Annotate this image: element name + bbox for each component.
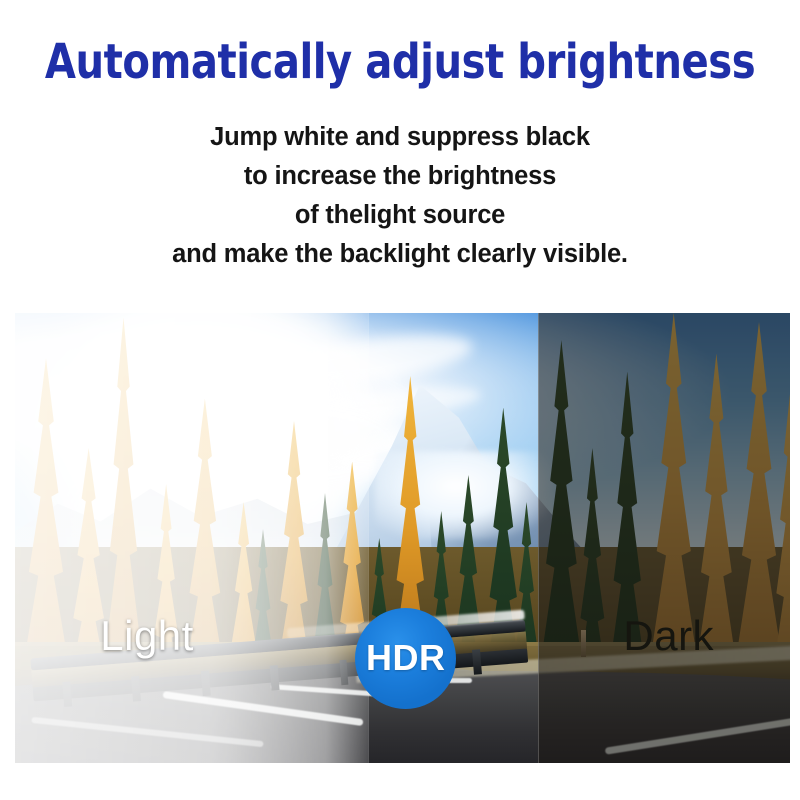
page-root: Automatically adjust brightness Jump whi…	[0, 0, 800, 800]
sign-post	[581, 630, 586, 657]
description-line-1: Jump white and suppress black	[0, 118, 800, 157]
guardrail-post	[338, 660, 348, 685]
zone-label-light: Light	[100, 612, 194, 660]
description-block: Jump white and suppress black to increas…	[0, 118, 800, 274]
guardrail-post	[472, 650, 482, 675]
hdr-badge: HDR	[355, 608, 456, 709]
description-line-2: to increase the brightness	[0, 157, 800, 196]
guardrail-post	[62, 682, 72, 707]
zone-divider-light-hdr	[368, 313, 369, 763]
hdr-comparison-photo: Light Dark HDR	[15, 313, 790, 763]
guardrail-post	[269, 666, 279, 691]
guardrail-post	[131, 676, 141, 701]
description-line-3: of thelight source	[0, 196, 800, 235]
zone-label-dark: Dark	[623, 612, 714, 660]
page-title: Automatically adjust brightness	[28, 34, 772, 90]
guardrail-post	[200, 671, 210, 696]
zone-divider-hdr-dark	[538, 313, 539, 763]
hdr-badge-label: HDR	[366, 640, 446, 676]
description-line-4: and make the backlight clearly visible.	[0, 235, 800, 274]
